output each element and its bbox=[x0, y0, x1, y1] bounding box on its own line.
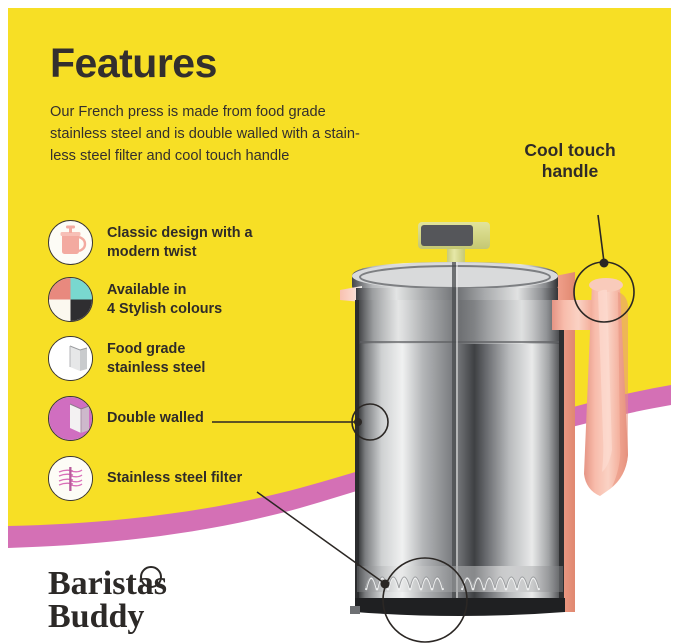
colour-wheel-icon bbox=[48, 277, 93, 322]
feature-label: Double walled bbox=[107, 409, 204, 427]
feature-label: Food grade stainless steel bbox=[107, 340, 205, 377]
background-shapes bbox=[0, 0, 679, 644]
logo-circle-mark bbox=[140, 566, 162, 588]
feature-item-classic-design[interactable]: Classic design with a modern twist bbox=[48, 220, 253, 265]
feature-item-food-grade-steel[interactable]: Food grade stainless steel bbox=[48, 336, 205, 381]
logo-line-2: Buddy bbox=[48, 598, 144, 635]
callout-label-cool-touch-handle: Cool touch handle bbox=[495, 140, 645, 183]
feature-label: Classic design with a modern twist bbox=[107, 224, 253, 261]
filter-mesh-icon bbox=[48, 456, 93, 501]
feature-label: Available in 4 Stylish colours bbox=[107, 281, 222, 318]
wall-cross-section-icon bbox=[48, 336, 93, 381]
feature-item-stylish-colours[interactable]: Available in 4 Stylish colours bbox=[48, 277, 222, 322]
french-press-icon bbox=[48, 220, 93, 265]
page-title: Features bbox=[50, 42, 217, 85]
feature-item-double-walled[interactable]: Double walled bbox=[48, 396, 204, 441]
feature-item-stainless-steel-filter[interactable]: Stainless steel filter bbox=[48, 456, 242, 501]
feature-label: Stainless steel filter bbox=[107, 469, 242, 487]
product-feature-infographic: Features Our French press is made from f… bbox=[0, 0, 679, 644]
intro-paragraph: Our French press is made from food grade… bbox=[50, 101, 380, 168]
double-wall-icon bbox=[48, 396, 93, 441]
